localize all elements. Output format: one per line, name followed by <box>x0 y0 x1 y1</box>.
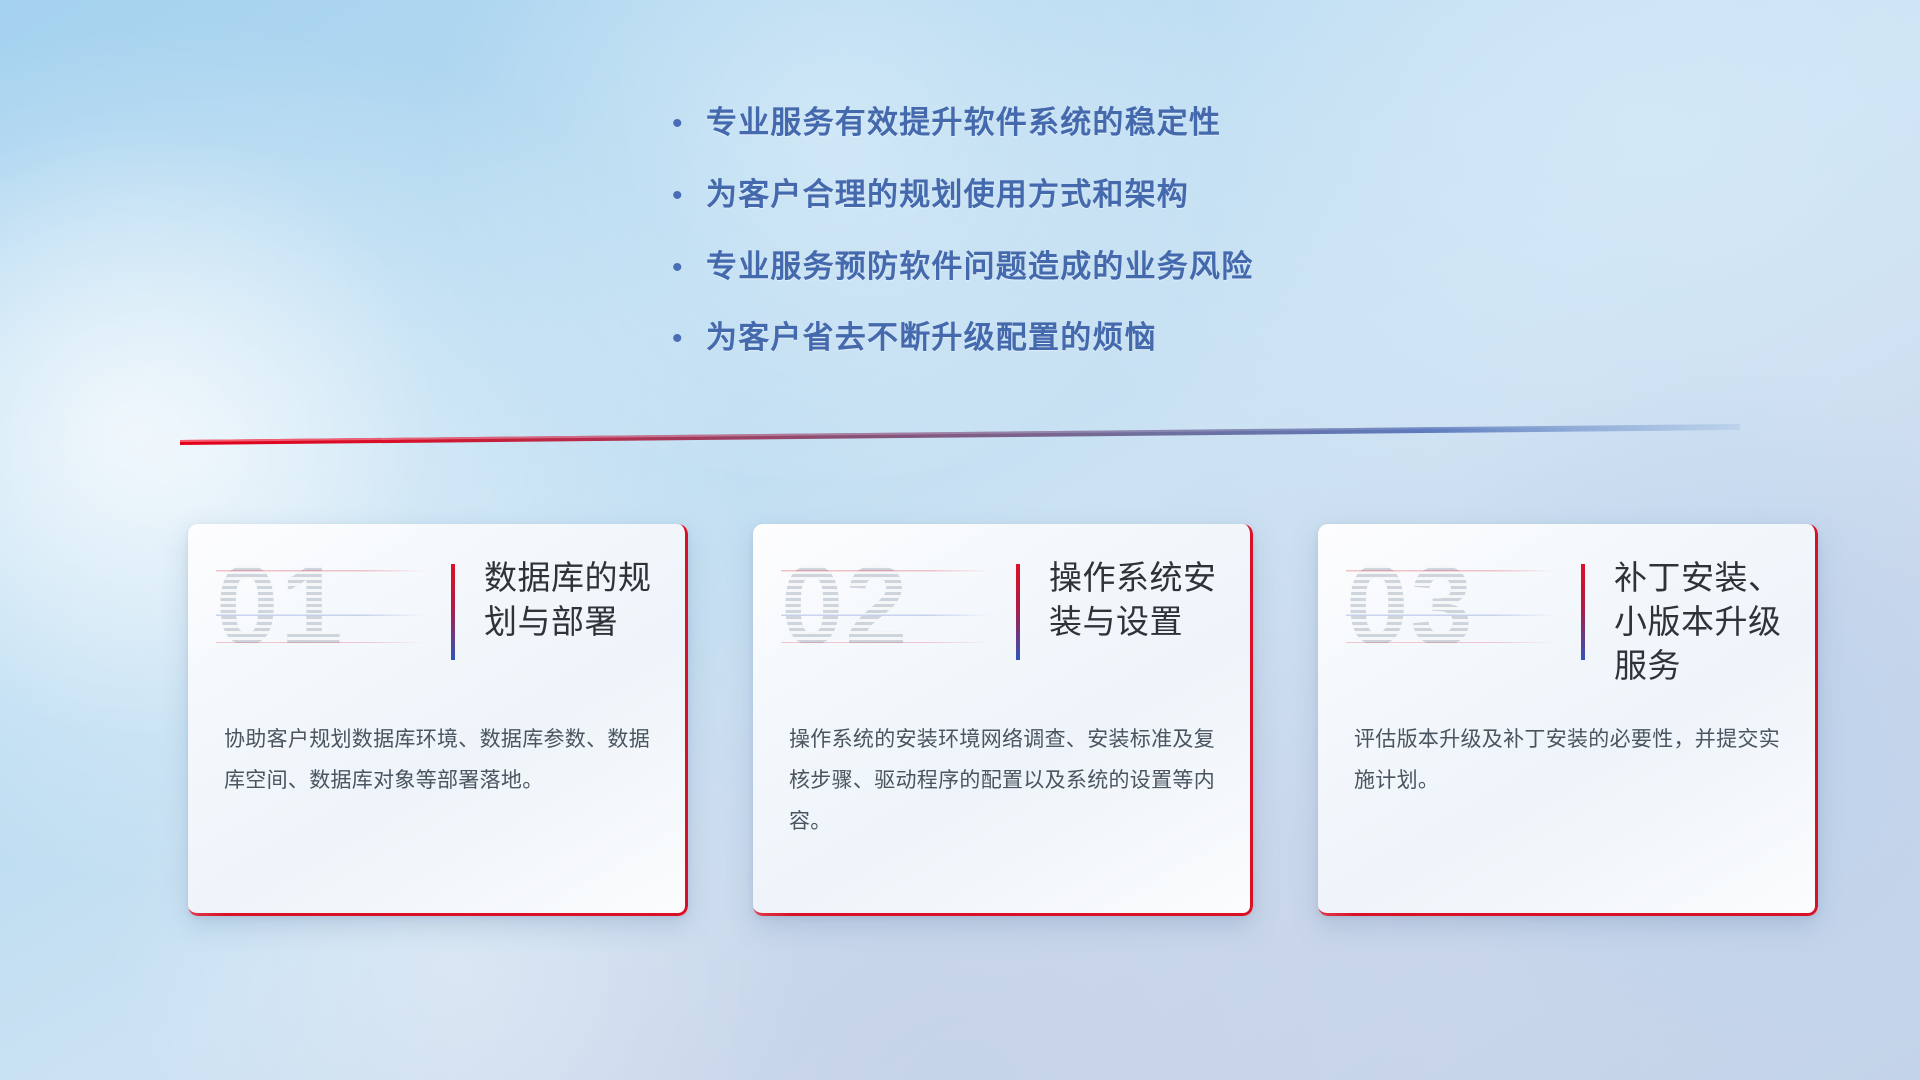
card-title: 补丁安装、小版本升级服务 <box>1614 556 1804 688</box>
bullet-text: 专业服务有效提升软件系统的稳定性 <box>706 104 1221 143</box>
service-card-03[interactable]: 03 03 补丁安装、小版本升级服务 评估版本升级及补丁安装的必要性，并提交实施… <box>1318 524 1818 916</box>
title-accent-bar <box>1581 564 1585 660</box>
bullet-text: 为客户合理的规划使用方式和架构 <box>706 176 1189 215</box>
card-body-text: 评估版本升级及补丁安装的必要性，并提交实施计划。 <box>1354 720 1784 802</box>
bullet-dot-icon: • <box>672 324 706 354</box>
bullet-dot-icon: • <box>672 253 706 283</box>
card-header: 01 01 数据库的规划与部署 <box>188 524 688 702</box>
card-body-text: 操作系统的安装环境网络调查、安装标准及复核步骤、驱动程序的配置以及系统的设置等内… <box>789 720 1219 843</box>
list-item: • 专业服务有效提升软件系统的稳定性 <box>672 104 1253 143</box>
list-item: • 为客户省去不断升级配置的烦恼 <box>672 319 1253 358</box>
card-number: 03 <box>1346 550 1475 662</box>
card-group: 01 01 数据库的规划与部署 协助客户规划数据库环境、数据库参数、数据库空间、… <box>188 524 1818 916</box>
bullet-text: 为客户省去不断升级配置的烦恼 <box>706 319 1157 358</box>
card-number: 02 <box>781 550 910 662</box>
service-card-01[interactable]: 01 01 数据库的规划与部署 协助客户规划数据库环境、数据库参数、数据库空间、… <box>188 524 688 916</box>
list-item: • 专业服务预防软件问题造成的业务风险 <box>672 248 1253 287</box>
card-header: 03 03 补丁安装、小版本升级服务 <box>1318 524 1818 702</box>
card-title: 数据库的规划与部署 <box>484 556 674 644</box>
bullet-dot-icon: • <box>672 181 706 211</box>
card-number: 01 <box>216 550 345 662</box>
section-divider <box>180 420 1740 446</box>
bullet-list: • 专业服务有效提升软件系统的稳定性 • 为客户合理的规划使用方式和架构 • 专… <box>672 104 1253 358</box>
title-accent-bar <box>451 564 455 660</box>
list-item: • 为客户合理的规划使用方式和架构 <box>672 176 1253 215</box>
bullet-text: 专业服务预防软件问题造成的业务风险 <box>706 248 1253 287</box>
card-body-text: 协助客户规划数据库环境、数据库参数、数据库空间、数据库对象等部署落地。 <box>224 720 654 802</box>
bullet-dot-icon: • <box>672 109 706 139</box>
title-accent-bar <box>1016 564 1020 660</box>
card-title: 操作系统安装与设置 <box>1049 556 1239 644</box>
card-header: 02 02 操作系统安装与设置 <box>753 524 1253 702</box>
slide-canvas: • 专业服务有效提升软件系统的稳定性 • 为客户合理的规划使用方式和架构 • 专… <box>0 0 1920 1080</box>
service-card-02[interactable]: 02 02 操作系统安装与设置 操作系统的安装环境网络调查、安装标准及复核步骤、… <box>753 524 1253 916</box>
